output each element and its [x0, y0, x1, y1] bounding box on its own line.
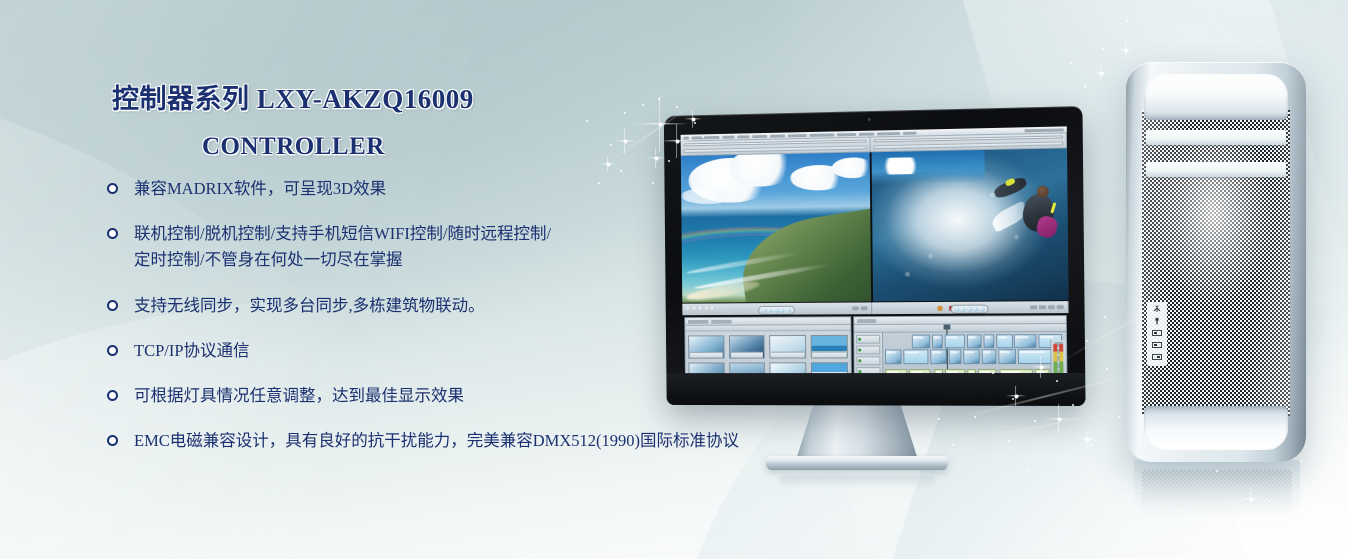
video-clip[interactable] — [930, 349, 946, 364]
video-clip[interactable] — [932, 335, 943, 349]
heading-group: 控制器系列 LXY-AKZQ16009 CONTROLLER — [112, 84, 812, 162]
list-item-label: EMC电磁兼容设计，具有良好的抗干扰能力，完美兼容DMX512(1990)国际标… — [134, 428, 739, 454]
right-viewer — [870, 148, 1069, 301]
optical-drive-slot[interactable] — [1146, 162, 1286, 177]
surfer — [992, 176, 1060, 256]
tower-bottom-handle — [1144, 406, 1288, 450]
firewire-icon — [1151, 305, 1163, 313]
desktop-tower-computer — [1126, 62, 1306, 462]
video-clip[interactable] — [998, 349, 1017, 364]
star-sparkle-icon — [1116, 40, 1136, 60]
track-area — [883, 332, 1066, 373]
video-clip[interactable] — [967, 334, 982, 348]
hollow-circle-icon — [107, 435, 118, 446]
right-viewer-controls — [872, 301, 1069, 314]
star-sparkle-icon — [1044, 404, 1074, 434]
video-clip[interactable] — [903, 349, 928, 364]
video-clip[interactable] — [983, 334, 994, 348]
list-item-label: 支持无线同步，实现多台同步,多栋建筑物联动。 — [134, 293, 485, 319]
tower-top-handle — [1144, 74, 1288, 120]
optical-drive-slot[interactable] — [1146, 130, 1286, 145]
video-clip[interactable] — [949, 349, 962, 364]
track-controls[interactable] — [854, 333, 884, 373]
surfer-image — [872, 148, 1069, 301]
transport-buttons[interactable] — [950, 305, 988, 314]
video-clip[interactable] — [912, 335, 930, 349]
tower-reflection — [1134, 460, 1300, 530]
video-clip[interactable] — [963, 349, 980, 364]
hollow-circle-icon — [107, 228, 118, 239]
list-item: 支持无线同步，实现多台同步,多栋建筑物联动。 — [107, 293, 847, 319]
tower-mesh-front — [1142, 110, 1290, 416]
list-item-label: TCP/IP协议通信 — [134, 338, 250, 364]
list-item: 兼容MADRIX软件，可呈现3D效果 — [107, 176, 847, 202]
hollow-circle-icon — [107, 183, 118, 194]
page-title: 控制器系列 LXY-AKZQ16009 — [112, 84, 812, 114]
tower-port-panel[interactable] — [1147, 302, 1167, 366]
hollow-circle-icon — [107, 390, 118, 401]
monitor-stand-base — [766, 456, 948, 470]
list-item: 联机控制/脱机控制/支持手机短信WIFI控制/随时远程控制/ 定时控制/不管身在… — [107, 221, 847, 273]
audio-meter — [1053, 344, 1057, 373]
video-clip[interactable] — [981, 349, 996, 364]
star-sparkle-icon — [1078, 430, 1096, 448]
usb-icon — [1151, 329, 1163, 337]
video-clip[interactable] — [945, 334, 965, 348]
list-item: TCP/IP协议通信 — [107, 338, 847, 364]
list-item: 可根据灯具情况任意调整，达到最佳显示效果 — [107, 383, 847, 409]
page-subtitle: CONTROLLER — [202, 132, 812, 162]
star-sparkle-icon — [1094, 66, 1108, 80]
usb-icon — [1151, 353, 1163, 361]
audio-meter — [1059, 344, 1063, 373]
list-item-label: 兼容MADRIX软件，可呈现3D效果 — [134, 176, 386, 202]
list-item: EMC电磁兼容设计，具有良好的抗干扰能力，完美兼容DMX512(1990)国际标… — [107, 428, 847, 454]
headphone-icon — [1151, 317, 1163, 325]
hollow-circle-icon — [107, 345, 118, 356]
usb-icon — [1151, 341, 1163, 349]
monitor-stand-reflection — [778, 476, 936, 488]
hollow-circle-icon — [107, 300, 118, 311]
feature-list: 兼容MADRIX软件，可呈现3D效果 联机控制/脱机控制/支持手机短信WIFI控… — [107, 176, 847, 454]
timeline-tracks — [854, 332, 1067, 373]
video-clip[interactable] — [1014, 334, 1036, 348]
product-banner: 控制器系列 LXY-AKZQ16009 CONTROLLER 兼容MADRIX软… — [0, 0, 1348, 559]
list-item-label: 可根据灯具情况任意调整，达到最佳显示效果 — [134, 383, 464, 409]
video-clip[interactable] — [885, 349, 901, 364]
timeline-panel — [853, 315, 1068, 373]
list-item-label: 联机控制/脱机控制/支持手机短信WIFI控制/随时远程控制/ 定时控制/不管身在… — [134, 221, 551, 273]
video-clip[interactable] — [996, 334, 1013, 348]
